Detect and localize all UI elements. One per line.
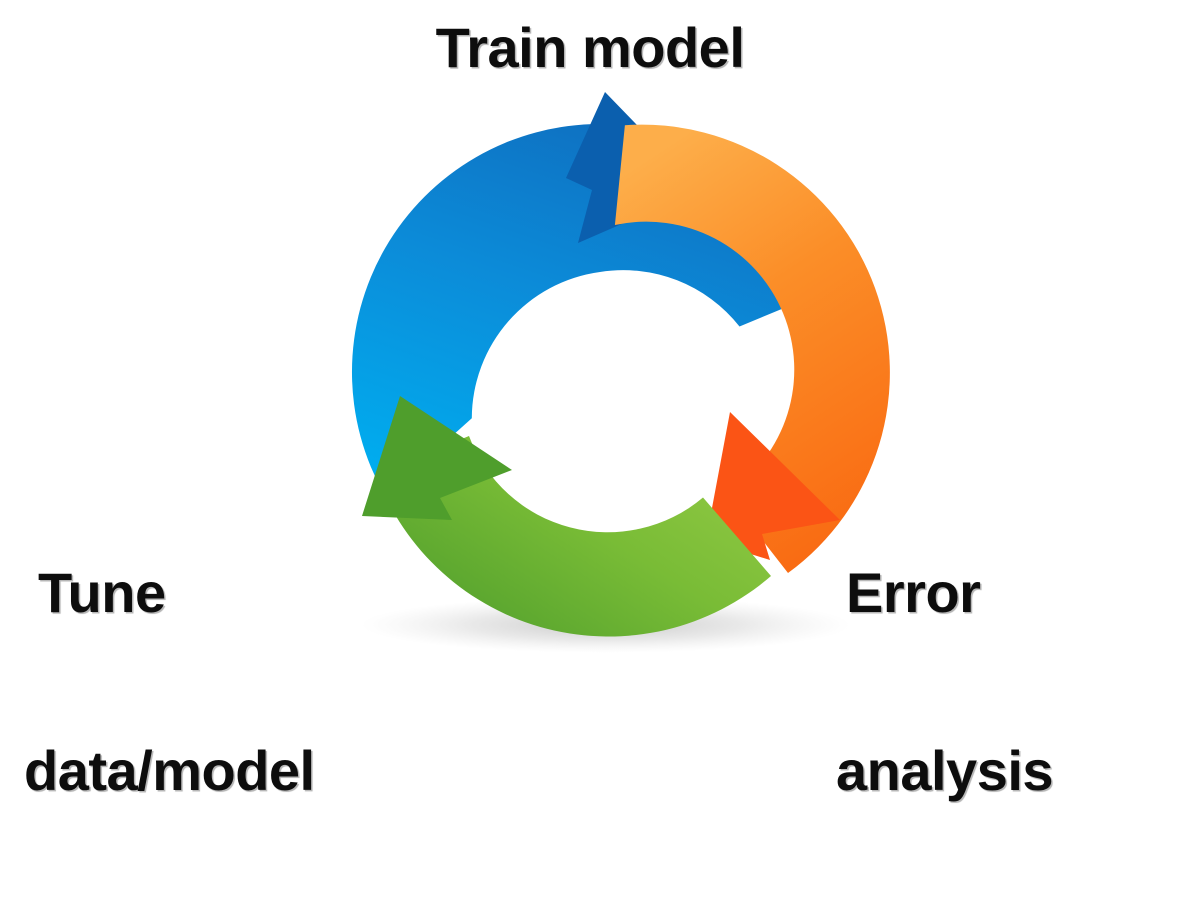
label-train-model: Train model	[0, 18, 1190, 77]
label-error-line-2: analysis	[836, 741, 1196, 800]
label-tune-line-1: Tune	[24, 563, 424, 622]
diagram-canvas: Train model Tune data/model Error analys…	[0, 0, 1200, 676]
label-error-analysis: Error analysis	[836, 444, 1196, 919]
label-tune-line-2: data/model	[24, 741, 424, 800]
label-error-line-1: Error	[836, 563, 1196, 622]
label-tune-data-model: Tune data/model	[24, 444, 424, 919]
